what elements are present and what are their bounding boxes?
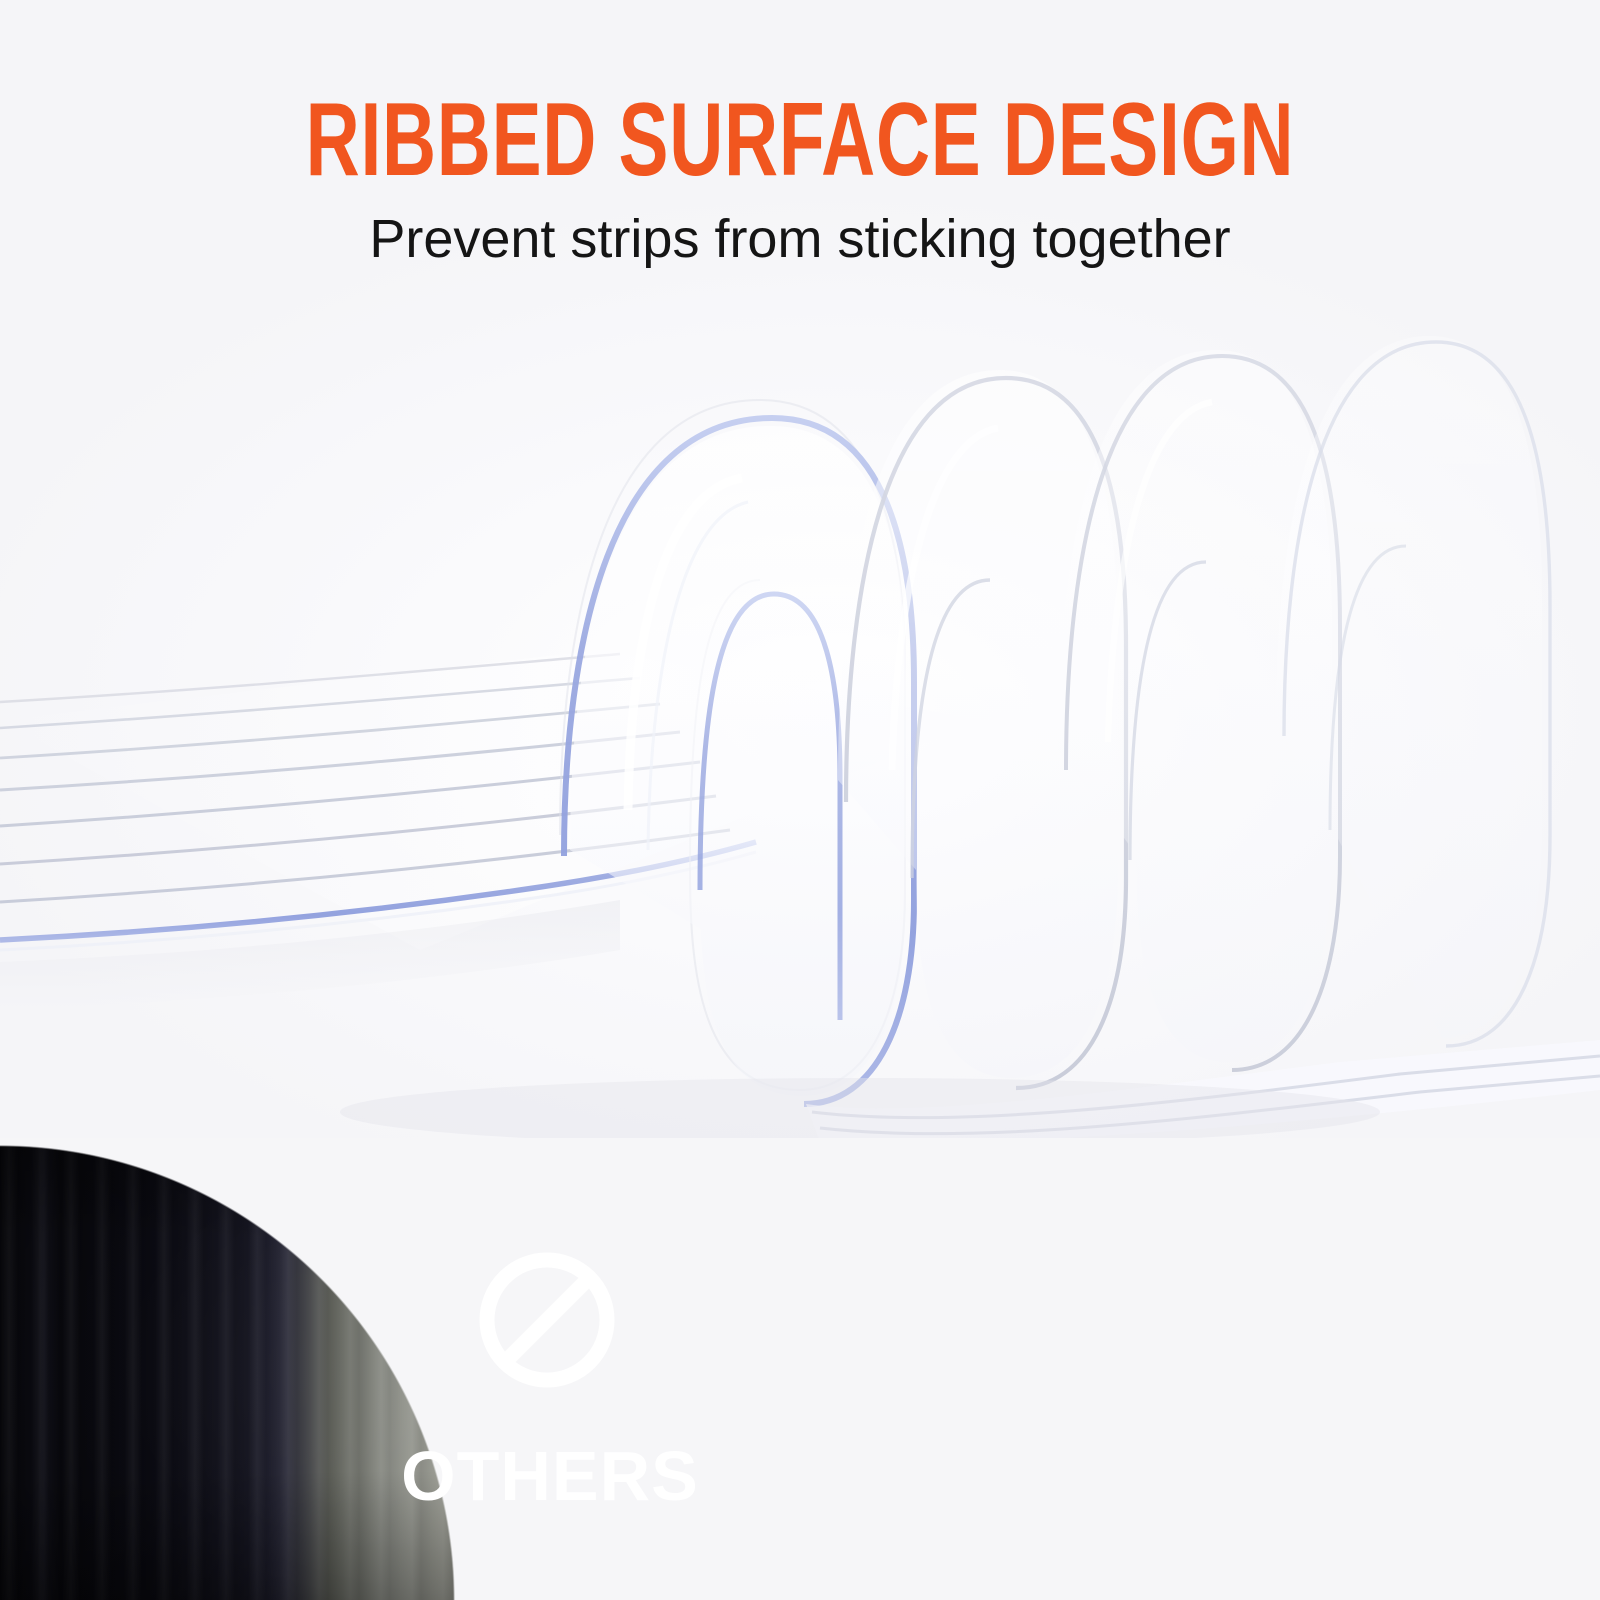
pvc-strip-curtain-illustration (0, 250, 1600, 1138)
prohibition-icon (475, 1248, 619, 1392)
photo-vignette (0, 1138, 1262, 1600)
others-comparison-panel (0, 1138, 1262, 1600)
hero-panel: RIBBED SURFACE DESIGN Prevent strips fro… (0, 0, 1600, 1138)
page-title: RIBBED SURFACE DESIGN (224, 92, 1376, 188)
others-label: OTHERS (0, 1438, 1100, 1514)
product-marketing-image: RIBBED SURFACE DESIGN Prevent strips fro… (0, 0, 1600, 1600)
